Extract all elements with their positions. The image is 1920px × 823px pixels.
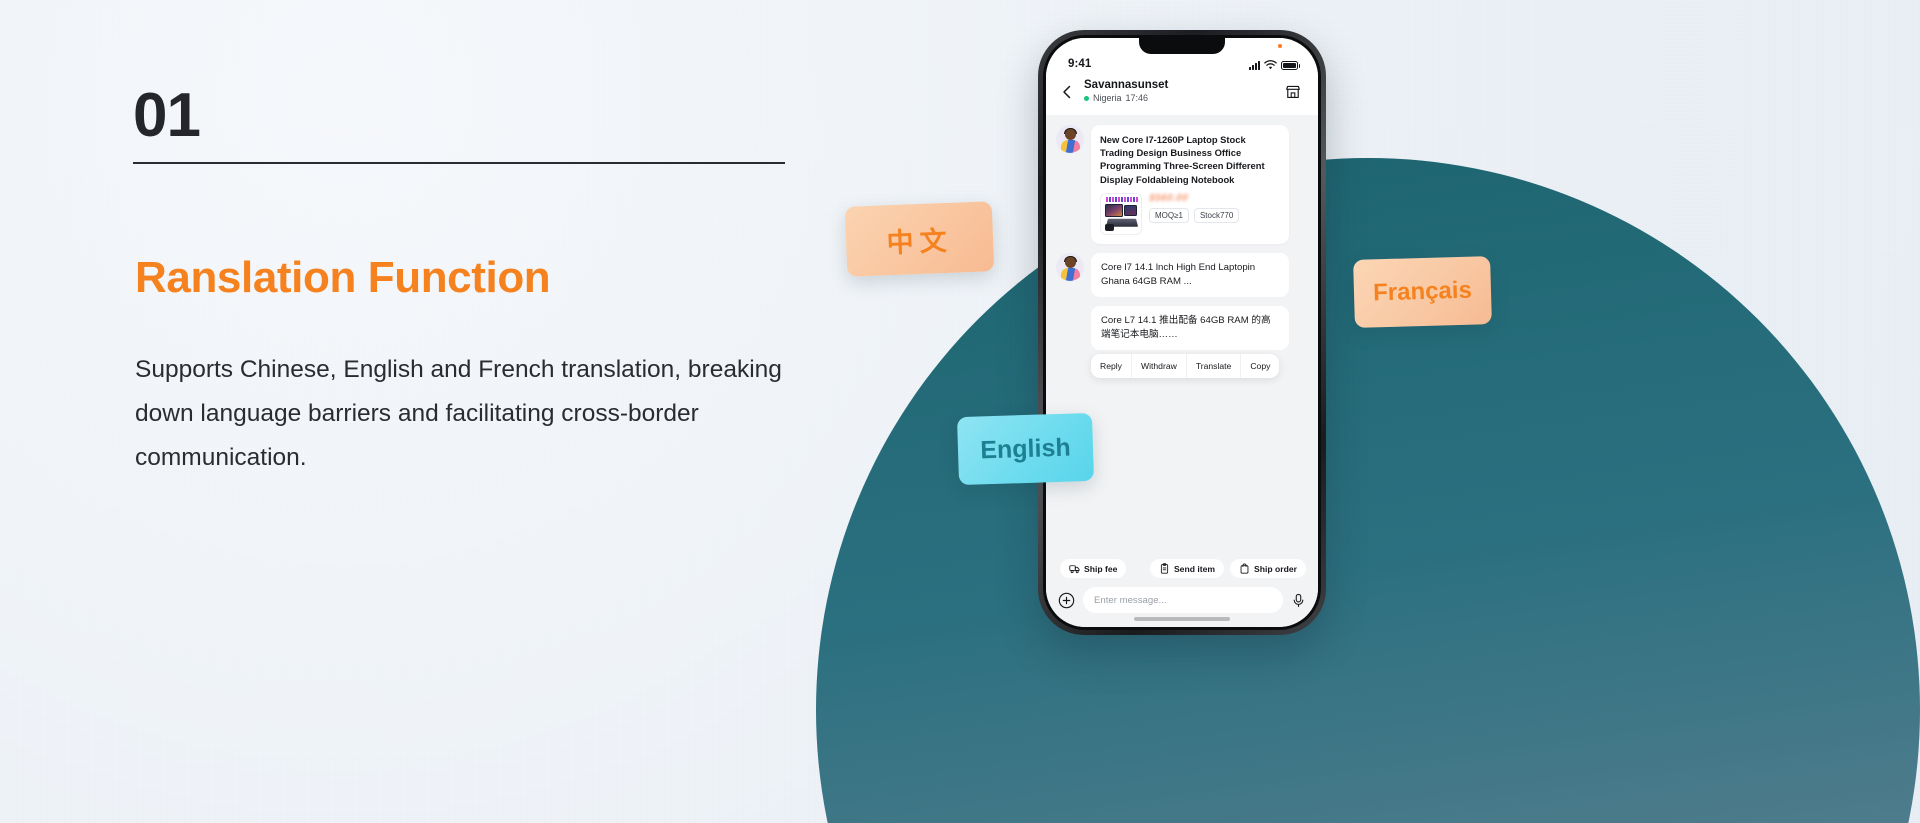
ship-order-button[interactable]: Ship order [1230, 559, 1306, 578]
contact-country: Nigeria [1093, 92, 1122, 105]
wifi-icon [1264, 60, 1277, 70]
product-meta: $560.00 MOQ≥1 Stock770 [1149, 193, 1239, 223]
context-menu-reply[interactable]: Reply [1091, 354, 1132, 378]
thumbnail-accessory [1105, 224, 1114, 231]
message-bubble[interactable]: Core l7 14.1 lnch High End Laptopin Ghan… [1091, 253, 1289, 297]
avatar-head [1065, 129, 1076, 140]
send-item-label: Send item [1174, 564, 1215, 574]
chat-header-texts: Savannasunset Nigeria 17:46 [1084, 78, 1276, 105]
clipboard-icon [1159, 563, 1170, 574]
storefront-icon[interactable] [1284, 83, 1302, 101]
message-row-text: Core l7 14.1 lnch High End Laptopin Ghan… [1056, 253, 1306, 297]
translated-message-bubble[interactable]: Core L7 14.1 推出配备 64GB RAM 的高端笔记本电脑…… [1091, 306, 1289, 350]
contact-name: Savannasunset [1084, 78, 1276, 92]
left-content-column: 01 Ranslation Function Supports Chinese,… [133, 0, 833, 823]
divider-rule [133, 162, 785, 164]
microphone-icon[interactable] [1291, 593, 1306, 608]
message-row-product: New Core I7-1260P Laptop Stock Trading D… [1056, 125, 1306, 244]
phone-screen: 9:41 [1046, 38, 1318, 627]
product-price: $560.00 [1148, 193, 1241, 205]
status-badge: Stock770 [1194, 208, 1239, 223]
body-paragraph: Supports Chinese, English and French tra… [135, 348, 835, 480]
message-context-menu: Reply Withdraw Translate Copy [1091, 354, 1279, 378]
contact-status: Nigeria 17:46 [1084, 92, 1276, 105]
quick-actions-bar: Ship fee Send item [1046, 553, 1318, 582]
avatar-body [1061, 268, 1080, 281]
home-indicator [1134, 617, 1230, 621]
message-input[interactable]: Enter message... [1083, 587, 1283, 613]
status-indicators [1249, 60, 1298, 70]
ship-order-label: Ship order [1254, 564, 1297, 574]
avatar [1056, 125, 1084, 153]
shopping-bag-icon [1239, 563, 1250, 574]
phone-mockup: 9:41 [1038, 30, 1326, 635]
product-card-footer: $560.00 MOQ≥1 Stock770 [1100, 193, 1280, 235]
product-title: New Core I7-1260P Laptop Stock Trading D… [1100, 133, 1280, 186]
phone-frame: 9:41 [1038, 30, 1326, 635]
context-menu-copy[interactable]: Copy [1241, 354, 1279, 378]
online-status-dot [1084, 96, 1089, 101]
context-menu-translate[interactable]: Translate [1187, 354, 1242, 378]
language-chip-french[interactable]: Français [1353, 256, 1492, 328]
contact-local-time: 17:46 [1126, 92, 1149, 105]
avatar-head [1065, 257, 1076, 268]
avatar [1056, 253, 1084, 281]
battery-icon [1281, 61, 1298, 70]
thumbnail-monitor-main [1105, 204, 1123, 217]
language-chip-english[interactable]: English [957, 413, 1094, 485]
send-item-button[interactable]: Send item [1150, 559, 1224, 578]
plus-circle-icon[interactable] [1058, 592, 1075, 609]
thumbnail-color-strip [1106, 197, 1138, 202]
ship-fee-label: Ship fee [1084, 564, 1117, 574]
phone-bezel: 9:41 [1043, 35, 1321, 630]
chat-header: Savannasunset Nigeria 17:46 [1046, 74, 1318, 115]
orange-indicator-dot [1278, 44, 1282, 48]
phone-notch [1139, 38, 1225, 54]
status-time: 9:41 [1068, 58, 1091, 70]
thumbnail-monitor-side [1124, 205, 1137, 216]
context-menu-withdraw[interactable]: Withdraw [1132, 354, 1187, 378]
message-input-placeholder: Enter message... [1094, 595, 1167, 606]
status-bar: 9:41 [1046, 38, 1318, 74]
message-list: New Core I7-1260P Laptop Stock Trading D… [1046, 115, 1318, 553]
status-badge: MOQ≥1 [1149, 208, 1189, 223]
cellular-signal-icon [1249, 61, 1260, 70]
page-title: Ranslation Function [135, 254, 550, 302]
laptop-product-thumbnail[interactable] [1100, 193, 1142, 235]
ship-fee-button[interactable]: Ship fee [1060, 559, 1126, 578]
product-badges: MOQ≥1 Stock770 [1149, 208, 1239, 223]
product-card[interactable]: New Core I7-1260P Laptop Stock Trading D… [1091, 125, 1289, 244]
slide-number: 01 [133, 85, 200, 147]
language-chip-chinese[interactable]: 中文 [845, 201, 995, 277]
back-chevron-icon[interactable] [1058, 83, 1076, 101]
truck-icon [1069, 563, 1080, 574]
avatar-body [1061, 140, 1080, 153]
